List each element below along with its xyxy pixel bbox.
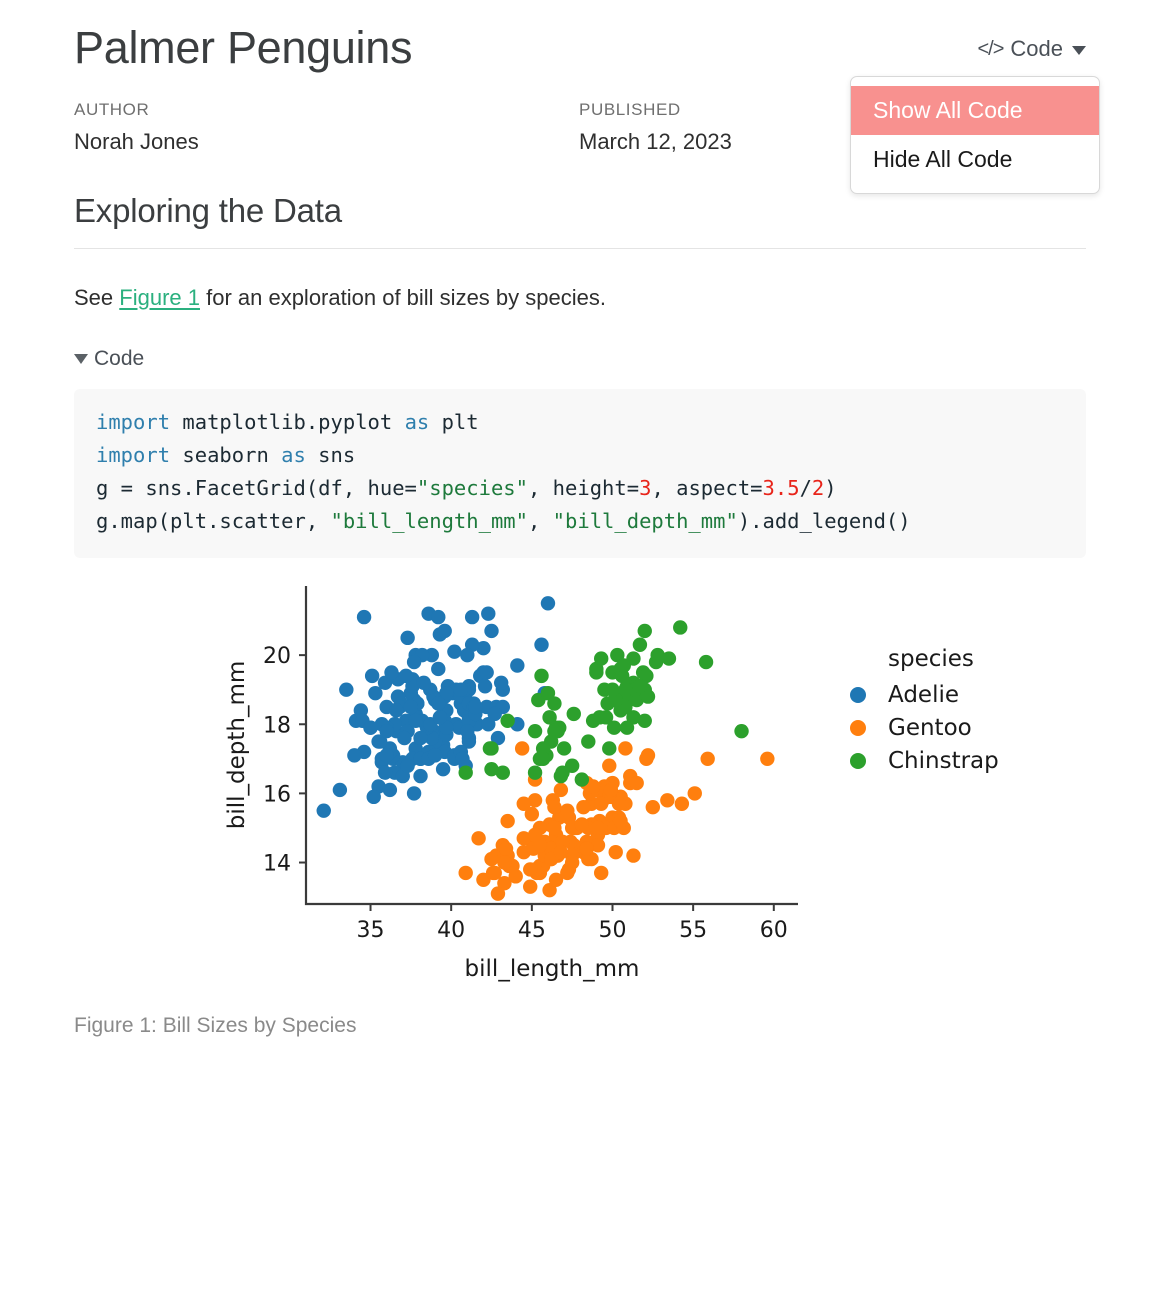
data-point bbox=[617, 658, 631, 672]
data-point bbox=[591, 820, 605, 834]
data-point bbox=[629, 775, 643, 789]
menu-item-show-all-code[interactable]: Show All Code bbox=[851, 86, 1099, 135]
data-point bbox=[557, 741, 571, 755]
code-token: as bbox=[405, 410, 430, 434]
data-point bbox=[586, 713, 600, 727]
data-point bbox=[500, 813, 514, 827]
legend-label: Adelie bbox=[888, 682, 959, 708]
code-token: , aspect= bbox=[651, 476, 762, 500]
intro-paragraph: See Figure 1 for an exploration of bill … bbox=[74, 281, 1086, 314]
data-point bbox=[339, 682, 353, 696]
data-point bbox=[560, 865, 574, 879]
data-point bbox=[500, 713, 514, 727]
legend-marker bbox=[850, 687, 866, 703]
data-point bbox=[646, 800, 660, 814]
data-point bbox=[431, 661, 445, 675]
data-point bbox=[481, 606, 495, 620]
x-tick-label: 55 bbox=[679, 918, 707, 943]
data-point bbox=[367, 789, 381, 803]
data-point bbox=[459, 765, 473, 779]
data-point bbox=[554, 782, 568, 796]
data-point bbox=[333, 782, 347, 796]
code-toggle-button[interactable]: </> Code bbox=[977, 36, 1086, 62]
figure-caption: Figure 1: Bill Sizes by Species bbox=[74, 1014, 1086, 1038]
data-point bbox=[363, 720, 377, 734]
data-point bbox=[613, 813, 627, 827]
legend-label: Gentoo bbox=[888, 715, 972, 741]
data-point bbox=[365, 668, 379, 682]
x-axis-label: bill_length_mm bbox=[465, 956, 640, 982]
data-point bbox=[675, 796, 689, 810]
data-point bbox=[383, 782, 397, 796]
paragraph-text-before: See bbox=[74, 285, 119, 310]
data-point bbox=[438, 623, 452, 637]
data-point bbox=[662, 651, 676, 665]
data-point bbox=[399, 668, 413, 682]
chevron-down-icon bbox=[1072, 46, 1086, 55]
data-point bbox=[484, 741, 498, 755]
data-point bbox=[347, 748, 361, 762]
data-point bbox=[379, 748, 393, 762]
data-point bbox=[700, 751, 714, 765]
code-token: ).add_legend() bbox=[738, 509, 911, 533]
data-point bbox=[594, 865, 608, 879]
data-point bbox=[602, 741, 616, 755]
header: Palmer Penguins </> Code Show All Code H… bbox=[74, 0, 1086, 74]
data-point bbox=[428, 748, 442, 762]
data-point bbox=[638, 713, 652, 727]
data-point bbox=[594, 796, 608, 810]
code-token: "bill_depth_mm" bbox=[553, 509, 738, 533]
legend-label: Chinstrap bbox=[888, 748, 999, 774]
data-point bbox=[408, 713, 422, 727]
data-point bbox=[620, 720, 634, 734]
y-tick-label: 18 bbox=[263, 713, 291, 738]
data-point bbox=[404, 699, 418, 713]
x-tick-label: 50 bbox=[598, 918, 626, 943]
data-point bbox=[515, 741, 529, 755]
data-point bbox=[447, 644, 461, 658]
data-point bbox=[638, 623, 652, 637]
data-point bbox=[523, 862, 537, 876]
data-point bbox=[660, 793, 674, 807]
data-point bbox=[478, 679, 492, 693]
data-point bbox=[400, 630, 414, 644]
data-point bbox=[618, 741, 632, 755]
code-fold-toggle[interactable]: Code bbox=[74, 347, 144, 371]
data-point bbox=[626, 848, 640, 862]
data-point bbox=[479, 665, 493, 679]
y-tick-label: 16 bbox=[263, 782, 291, 807]
code-token: / bbox=[800, 476, 812, 500]
data-point bbox=[567, 706, 581, 720]
data-point bbox=[547, 800, 561, 814]
data-point bbox=[413, 730, 427, 744]
figure-1-link[interactable]: Figure 1 bbox=[119, 285, 200, 310]
code-token: 2 bbox=[812, 476, 824, 500]
data-point bbox=[510, 658, 524, 672]
data-point bbox=[576, 800, 590, 814]
data-point bbox=[407, 654, 421, 668]
code-token: sns bbox=[306, 443, 355, 467]
code-token: plt bbox=[429, 410, 478, 434]
x-tick-label: 40 bbox=[437, 918, 465, 943]
code-token: "species" bbox=[417, 476, 528, 500]
data-point bbox=[612, 796, 626, 810]
code-token: ) bbox=[824, 476, 836, 500]
code-brackets-icon: </> bbox=[977, 38, 1003, 61]
data-point bbox=[541, 596, 555, 610]
data-point bbox=[554, 768, 568, 782]
x-tick-label: 45 bbox=[518, 918, 546, 943]
data-point bbox=[604, 782, 618, 796]
data-point bbox=[579, 841, 593, 855]
data-point bbox=[455, 751, 469, 765]
data-point bbox=[575, 817, 589, 831]
data-point bbox=[581, 734, 595, 748]
data-point bbox=[379, 724, 393, 738]
data-point bbox=[397, 730, 411, 744]
code-token: g.map(plt.scatter, bbox=[96, 509, 331, 533]
data-point bbox=[460, 647, 474, 661]
data-point bbox=[699, 654, 713, 668]
code-token: matplotlib.pyplot bbox=[170, 410, 405, 434]
figure-1: 35404550556014161820bill_length_mmbill_d… bbox=[74, 574, 1086, 1004]
data-point bbox=[534, 668, 548, 682]
data-point bbox=[471, 831, 485, 845]
code-token: import bbox=[96, 410, 170, 434]
data-point bbox=[407, 786, 421, 800]
author-value: Norah Jones bbox=[74, 129, 579, 155]
x-tick-label: 35 bbox=[357, 918, 385, 943]
data-point bbox=[528, 765, 542, 779]
data-point bbox=[497, 855, 511, 869]
code-token: as bbox=[281, 443, 306, 467]
document-page: Palmer Penguins </> Code Show All Code H… bbox=[0, 0, 1160, 1306]
y-tick-label: 14 bbox=[263, 851, 291, 876]
page-title: Palmer Penguins bbox=[74, 22, 412, 74]
data-point bbox=[536, 751, 550, 765]
code-token: "bill_length_mm" bbox=[331, 509, 528, 533]
data-point bbox=[431, 609, 445, 623]
data-point bbox=[602, 758, 616, 772]
scatter-plot: 35404550556014161820bill_length_mmbill_d… bbox=[158, 574, 1098, 984]
data-point bbox=[417, 675, 431, 689]
data-point bbox=[528, 724, 542, 738]
code-token: 3 bbox=[639, 476, 651, 500]
data-point bbox=[484, 762, 498, 776]
data-point bbox=[413, 768, 427, 782]
legend-marker bbox=[850, 753, 866, 769]
data-point bbox=[484, 851, 498, 865]
code-token: , bbox=[528, 509, 553, 533]
menu-item-hide-all-code[interactable]: Hide All Code bbox=[851, 135, 1099, 184]
author-label: AUTHOR bbox=[74, 100, 579, 120]
triangle-down-icon bbox=[74, 354, 88, 364]
data-point bbox=[431, 696, 445, 710]
data-point bbox=[499, 841, 513, 855]
data-point bbox=[523, 879, 537, 893]
section-heading: Exploring the Data bbox=[74, 192, 1086, 230]
x-tick-label: 60 bbox=[760, 918, 788, 943]
data-point bbox=[641, 748, 655, 762]
data-point bbox=[484, 623, 498, 637]
data-point bbox=[389, 703, 403, 717]
data-point bbox=[760, 751, 774, 765]
data-point bbox=[528, 827, 542, 841]
data-point bbox=[633, 679, 647, 693]
data-point bbox=[368, 686, 382, 700]
section-divider bbox=[74, 248, 1086, 249]
legend-title: species bbox=[888, 646, 974, 672]
data-point bbox=[491, 886, 505, 900]
code-toggle-label: Code bbox=[1010, 36, 1063, 62]
code-token: seaborn bbox=[170, 443, 281, 467]
data-point bbox=[317, 803, 331, 817]
data-point bbox=[594, 651, 608, 665]
legend-marker bbox=[850, 720, 866, 736]
code-token: 3.5 bbox=[763, 476, 800, 500]
paragraph-text-after: for an exploration of bill sizes by spec… bbox=[200, 285, 606, 310]
data-point bbox=[534, 637, 548, 651]
data-point bbox=[547, 696, 561, 710]
data-point bbox=[378, 765, 392, 779]
code-block[interactable]: import matplotlib.pyplot as plt import s… bbox=[74, 389, 1086, 558]
meta-author: AUTHOR Norah Jones bbox=[74, 100, 579, 155]
data-point bbox=[494, 675, 508, 689]
data-point bbox=[633, 637, 647, 651]
data-point bbox=[605, 682, 619, 696]
data-point bbox=[547, 820, 561, 834]
data-point bbox=[400, 758, 414, 772]
data-point bbox=[560, 803, 574, 817]
data-point bbox=[734, 724, 748, 738]
code-token: , height= bbox=[528, 476, 639, 500]
data-point bbox=[384, 665, 398, 679]
code-fold-label: Code bbox=[94, 347, 144, 371]
data-point bbox=[481, 717, 495, 731]
code-dropdown-menu: Show All Code Hide All Code bbox=[850, 76, 1100, 194]
code-token: import bbox=[96, 443, 170, 467]
y-axis-label: bill_depth_mm bbox=[224, 660, 250, 829]
data-point bbox=[433, 710, 447, 724]
code-token: g = sns.FacetGrid(df, hue= bbox=[96, 476, 417, 500]
data-point bbox=[460, 724, 474, 738]
code-menu: </> Code Show All Code Hide All Code bbox=[977, 36, 1086, 62]
y-tick-label: 20 bbox=[263, 644, 291, 669]
data-point bbox=[599, 710, 613, 724]
data-point bbox=[454, 682, 468, 696]
data-point bbox=[673, 620, 687, 634]
data-point bbox=[517, 796, 531, 810]
data-point bbox=[554, 845, 568, 859]
data-point bbox=[575, 772, 589, 786]
data-point bbox=[609, 845, 623, 859]
data-point bbox=[688, 786, 702, 800]
data-point bbox=[436, 762, 450, 776]
data-point bbox=[468, 699, 482, 713]
points-layer bbox=[317, 596, 775, 901]
data-point bbox=[357, 609, 371, 623]
data-point bbox=[465, 609, 479, 623]
data-point bbox=[459, 865, 473, 879]
